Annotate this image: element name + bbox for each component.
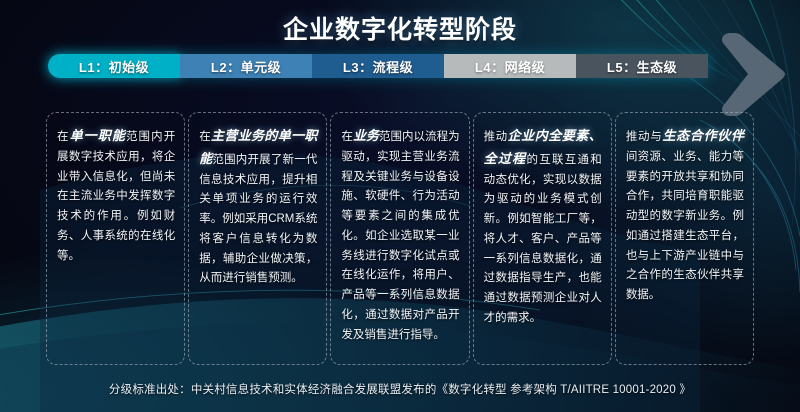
level-label-l5: L5：生态级 [607, 57, 677, 76]
stage-card-l3: 在业务范围内以流程为驱动，实现主营业务流程及关键业务与设备设施、软硬件、行为活动… [330, 112, 469, 365]
level-label-l4: L4：网络级 [475, 57, 545, 76]
stage-card-l1: 在单一职能范围内开展数字技术应用，将企业带入信息化，但尚未在主流业务中发挥数字技… [46, 112, 185, 365]
level-segment-l3[interactable]: L3：流程级 [312, 54, 444, 78]
level-segment-l4[interactable]: L4：网络级 [444, 54, 576, 78]
level-segment-l2[interactable]: L2：单元级 [180, 54, 312, 78]
stage-card-l5-body: 间资源、业务、能力等要素的开放共享和协同合作，共同培育职能驱动型的数字新业务。例… [626, 151, 744, 301]
stage-card-list: 在单一职能范围内开展数字技术应用，将企业带入信息化，但尚未在主流业务中发挥数字技… [46, 112, 754, 365]
level-label-l3: L3：流程级 [343, 57, 413, 76]
stage-card-l5: 推动与生态合作伙伴间资源、业务、能力等要素的开放共享和协同合作，共同培育职能驱动… [615, 112, 754, 365]
stage-card-l4: 推动企业内全要素、全过程的互联互通和动态优化，实现以数据为驱动的业务模式创新。例… [473, 112, 612, 365]
stage-card-l5-highlight: 生态合作伙伴 [662, 128, 744, 143]
maturity-level-bar: L1：初始级 L2：单元级 L3：流程级 L4：网络级 L5：生态级 [48, 54, 708, 78]
stage-card-l4-text: 推动企业内全要素、全过程的互联互通和动态优化，实现以数据为驱动的业务模式创新。例… [484, 125, 602, 329]
stage-card-l3-body: 范围内以流程为驱动，实现主营业务流程及关键业务与设备设施、软硬件、行为活动等要素… [341, 131, 459, 341]
level-label-l1: L1：初始级 [79, 57, 149, 76]
source-note: 分级标准出处：中关村信息技术和实体经济融合发展联盟发布的《数字化转型 参考架构 … [0, 381, 800, 397]
stage-card-l1-body: 范围内开展数字技术应用，将企业带入信息化，但尚未在主流业务中发挥数字技术的作用。… [57, 131, 175, 262]
slide-canvas: 企业数字化转型阶段 L1：初始级 L2：单元级 L3：流程级 L4：网络级 L5… [0, 0, 800, 412]
stage-card-l5-lead: 推动与 [626, 131, 663, 143]
stage-card-l2-lead: 在 [199, 131, 211, 143]
level-segment-l1[interactable]: L1：初始级 [48, 54, 180, 78]
stage-card-l2: 在主营业务的单一职能范围内开展了新一代信息技术应用，提升相关单项业务的运行效率。… [188, 112, 327, 365]
level-label-l2: L2：单元级 [211, 57, 281, 76]
stage-card-l1-lead: 在 [57, 131, 70, 143]
stage-card-l1-text: 在单一职能范围内开展数字技术应用，将企业带入信息化，但尚未在主流业务中发挥数字技… [57, 125, 175, 266]
stage-card-l4-lead: 推动 [484, 131, 508, 143]
stage-card-l5-text: 推动与生态合作伙伴间资源、业务、能力等要素的开放共享和协同合作，共同培育职能驱动… [626, 125, 744, 306]
stage-card-l3-text: 在业务范围内以流程为驱动，实现主营业务流程及关键业务与设备设施、软硬件、行为活动… [341, 125, 459, 345]
stage-card-l1-highlight: 单一职能 [70, 128, 126, 143]
level-segment-l5[interactable]: L5：生态级 [576, 54, 708, 78]
stage-card-l2-text: 在主营业务的单一职能范围内开展了新一代信息技术应用，提升相关单项业务的运行效率。… [199, 125, 317, 289]
stage-card-l3-highlight: 业务 [353, 128, 379, 143]
right-chevron-arrow-icon [700, 27, 800, 122]
stage-card-l4-body: 的互联互通和动态优化，实现以数据为驱动的业务模式创新。例如智能工厂等，将人才、客… [484, 154, 602, 324]
stage-card-l3-lead: 在 [341, 131, 353, 143]
stage-card-l2-body: 范围内开展了新一代信息技术应用，提升相关单项业务的运行效率。例如采用CRM系统将… [199, 154, 317, 285]
page-title: 企业数字化转型阶段 [0, 10, 800, 46]
